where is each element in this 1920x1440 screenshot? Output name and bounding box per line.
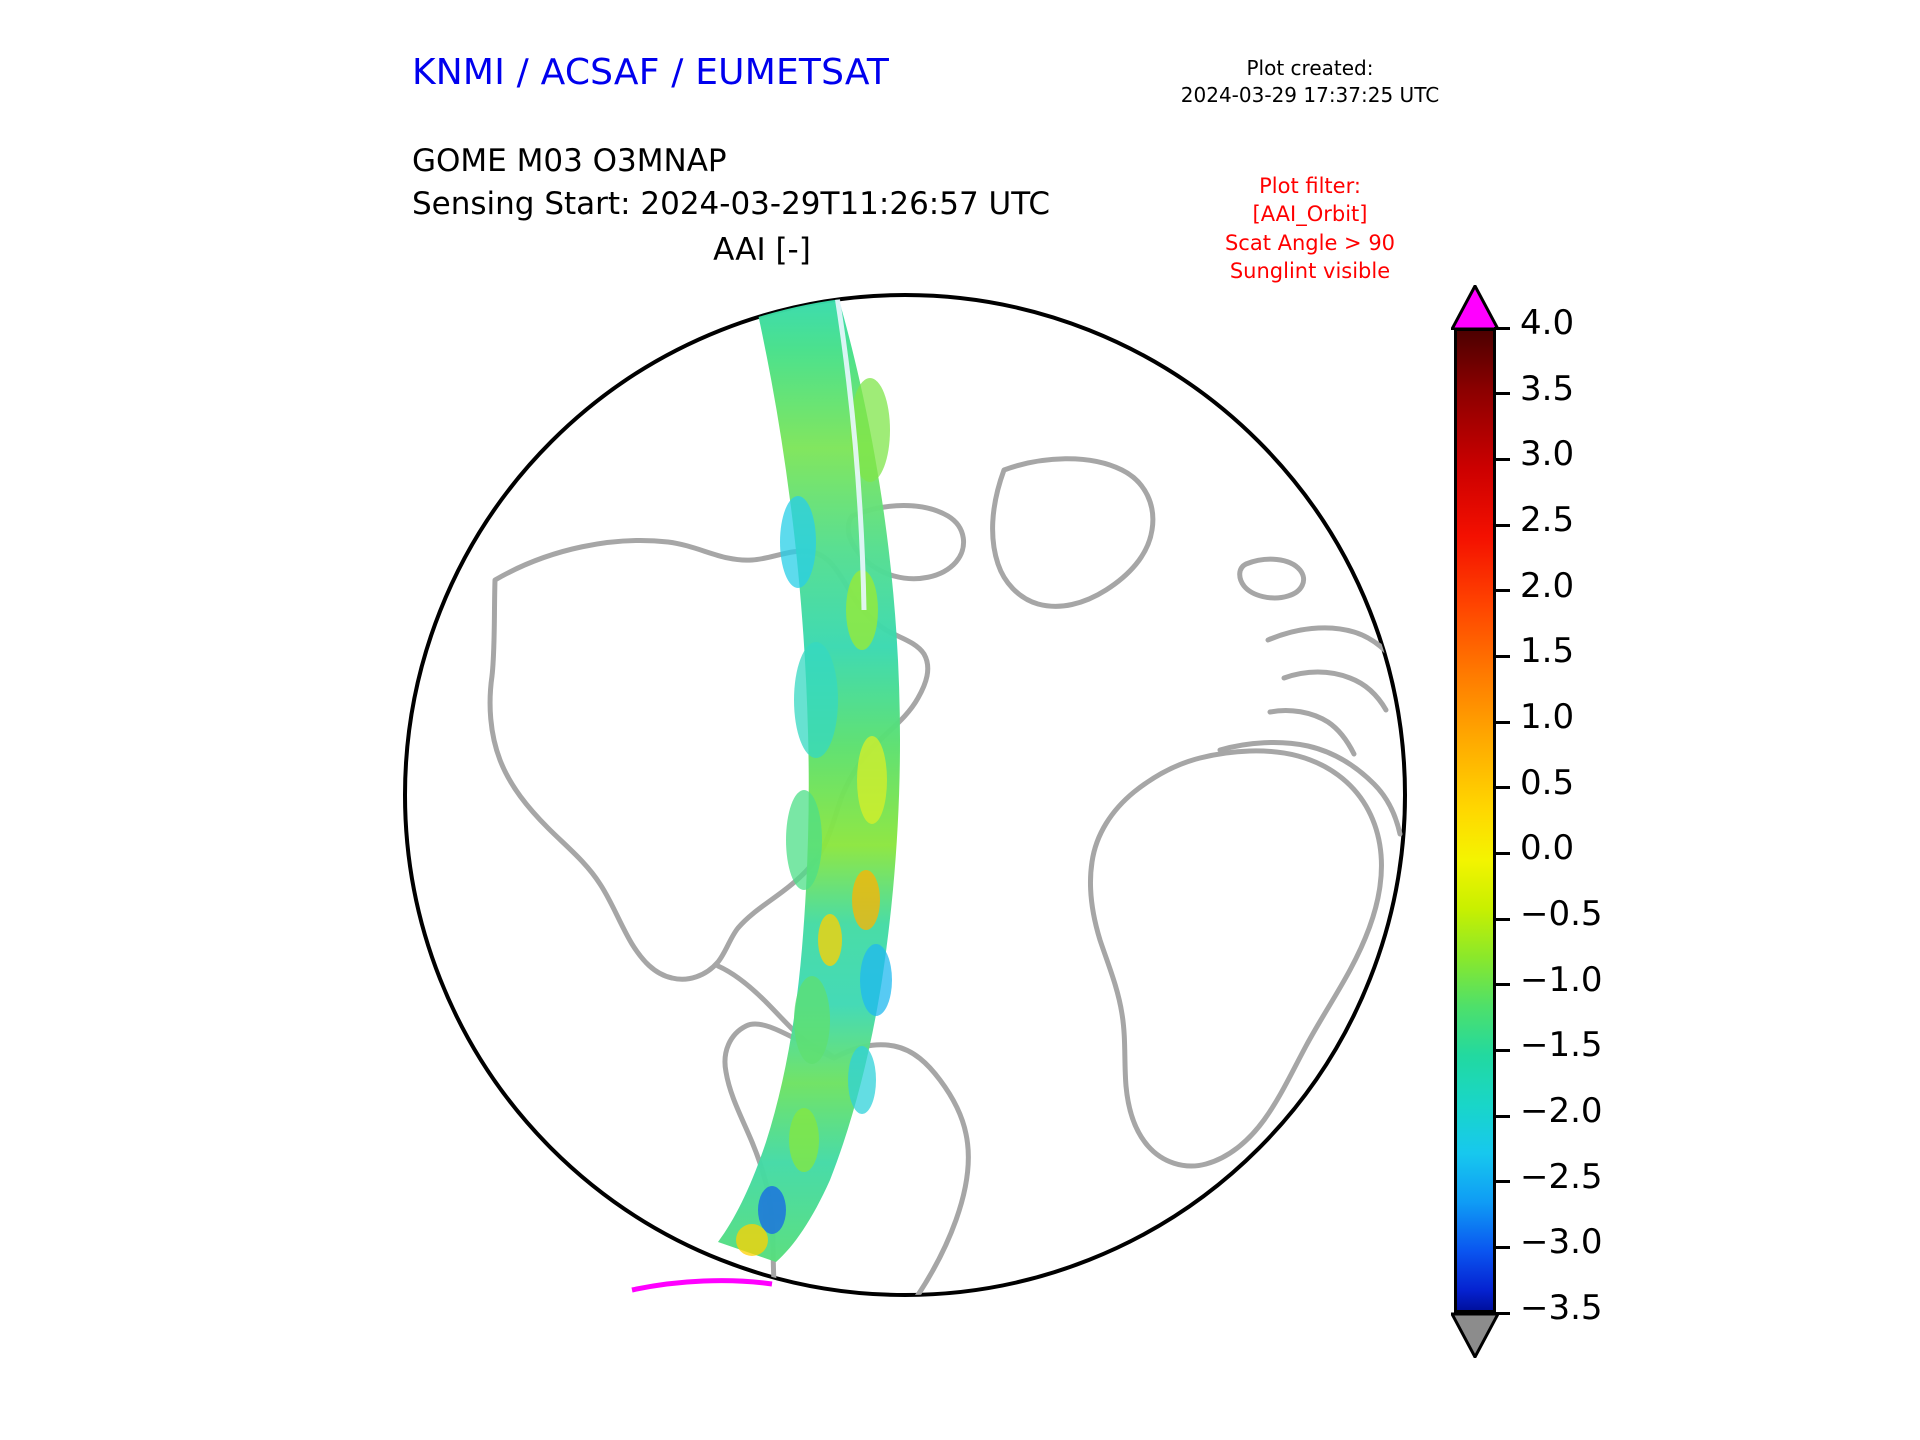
plot-filter-line-2: Scat Angle > 90 [1160, 229, 1460, 257]
quantity-title: AAI [-] [412, 232, 1112, 268]
colorbar-tick [1494, 983, 1510, 986]
colorbar-tick-label: −1.0 [1520, 963, 1603, 997]
colorbar-tick [1494, 1180, 1510, 1183]
plot-title-block: GOME M03 O3MNAP Sensing Start: 2024-03-2… [412, 140, 1050, 226]
plot-created-label: Plot created: [1160, 55, 1460, 82]
globe-map [400, 280, 1410, 1310]
colorbar-tick [1494, 1049, 1510, 1052]
plot-created-block: Plot created: 2024-03-29 17:37:25 UTC [1160, 55, 1460, 109]
colorbar-tick [1494, 589, 1510, 592]
colorbar-tick-label: 0.0 [1520, 831, 1574, 865]
colorbar-tick-label: 4.0 [1520, 306, 1574, 340]
colorbar-tick [1494, 392, 1510, 395]
globe-svg [400, 280, 1410, 1310]
plot-filter-line-1: [AAI_Orbit] [1160, 200, 1460, 228]
colorbar-tick-label: −2.5 [1520, 1160, 1603, 1194]
colorbar-tick-label: 0.5 [1520, 766, 1574, 800]
organisation-header: KNMI / ACSAF / EUMETSAT [412, 52, 889, 93]
colorbar-tick [1494, 524, 1510, 527]
colorbar-tick-label: 1.5 [1520, 634, 1574, 668]
colorbar-over-arrow-outline [1451, 285, 1499, 330]
sensing-start-title: Sensing Start: 2024-03-29T11:26:57 UTC [412, 183, 1050, 226]
colorbar-tick [1494, 458, 1510, 461]
colorbar-tick [1494, 327, 1510, 330]
colorbar-tick-label: −2.0 [1520, 1094, 1603, 1128]
colorbar-tick-label: 2.0 [1520, 569, 1574, 603]
globe-outline [405, 295, 1405, 1295]
colorbar-tick-label: −3.0 [1520, 1225, 1603, 1259]
figure-canvas: KNMI / ACSAF / EUMETSAT Plot created: 20… [0, 0, 1920, 1440]
colorbar-tick-label: 3.0 [1520, 437, 1574, 471]
colorbar-tick [1494, 1115, 1510, 1118]
colorbar-tick [1494, 721, 1510, 724]
ground-track-line [632, 1281, 772, 1290]
colorbar-tick-label: −0.5 [1520, 897, 1603, 931]
colorbar-tick [1494, 918, 1510, 921]
colorbar-gradient [1454, 328, 1496, 1313]
colorbar-tick-label: 2.5 [1520, 503, 1574, 537]
colorbar-tick [1494, 852, 1510, 855]
colorbar-tick [1494, 1246, 1510, 1249]
plot-created-value: 2024-03-29 17:37:25 UTC [1160, 82, 1460, 109]
colorbar-tick-label: −1.5 [1520, 1028, 1603, 1062]
colorbar-tick [1494, 786, 1510, 789]
instrument-title: GOME M03 O3MNAP [412, 140, 1050, 183]
colorbar-tick-label: 3.5 [1520, 372, 1574, 406]
colorbar-tick-label: −3.5 [1520, 1291, 1603, 1325]
colorbar-tick [1494, 1312, 1510, 1315]
colorbar-tick [1494, 655, 1510, 658]
colorbar-under-arrow-outline [1451, 1312, 1499, 1358]
colorbar-tick-label: 1.0 [1520, 700, 1574, 734]
plot-filter-block: Plot filter: [AAI_Orbit] Scat Angle > 90… [1160, 172, 1460, 285]
plot-filter-heading: Plot filter: [1160, 172, 1460, 200]
colorbar: 4.03.53.02.52.01.51.00.50.0−0.5−1.0−1.5−… [1440, 285, 1700, 1315]
